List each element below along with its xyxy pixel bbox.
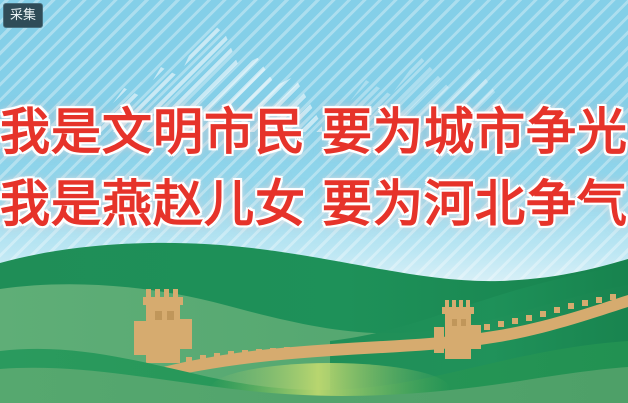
slogan-line2-right: 要为河北争气 [322, 168, 628, 240]
landscape-illustration [0, 223, 628, 403]
capture-button[interactable]: 采集 [3, 3, 43, 28]
slogan-line-2: 我是燕赵儿女 要为河北争气 [0, 168, 628, 240]
slogan-line-1: 我是文明市民 要为城市争光 [0, 96, 628, 168]
slogan-block: 我是文明市民 要为城市争光 我是燕赵儿女 要为河北争气 [0, 96, 628, 240]
slogan-line1-right: 要为城市争光 [322, 96, 628, 168]
slogan-line2-left: 我是燕赵儿女 [0, 168, 306, 240]
slogan-line1-left: 我是文明市民 [0, 96, 306, 168]
poster-canvas: 我是文明市民 要为城市争光 我是燕赵儿女 要为河北争气 采集 [0, 0, 628, 403]
